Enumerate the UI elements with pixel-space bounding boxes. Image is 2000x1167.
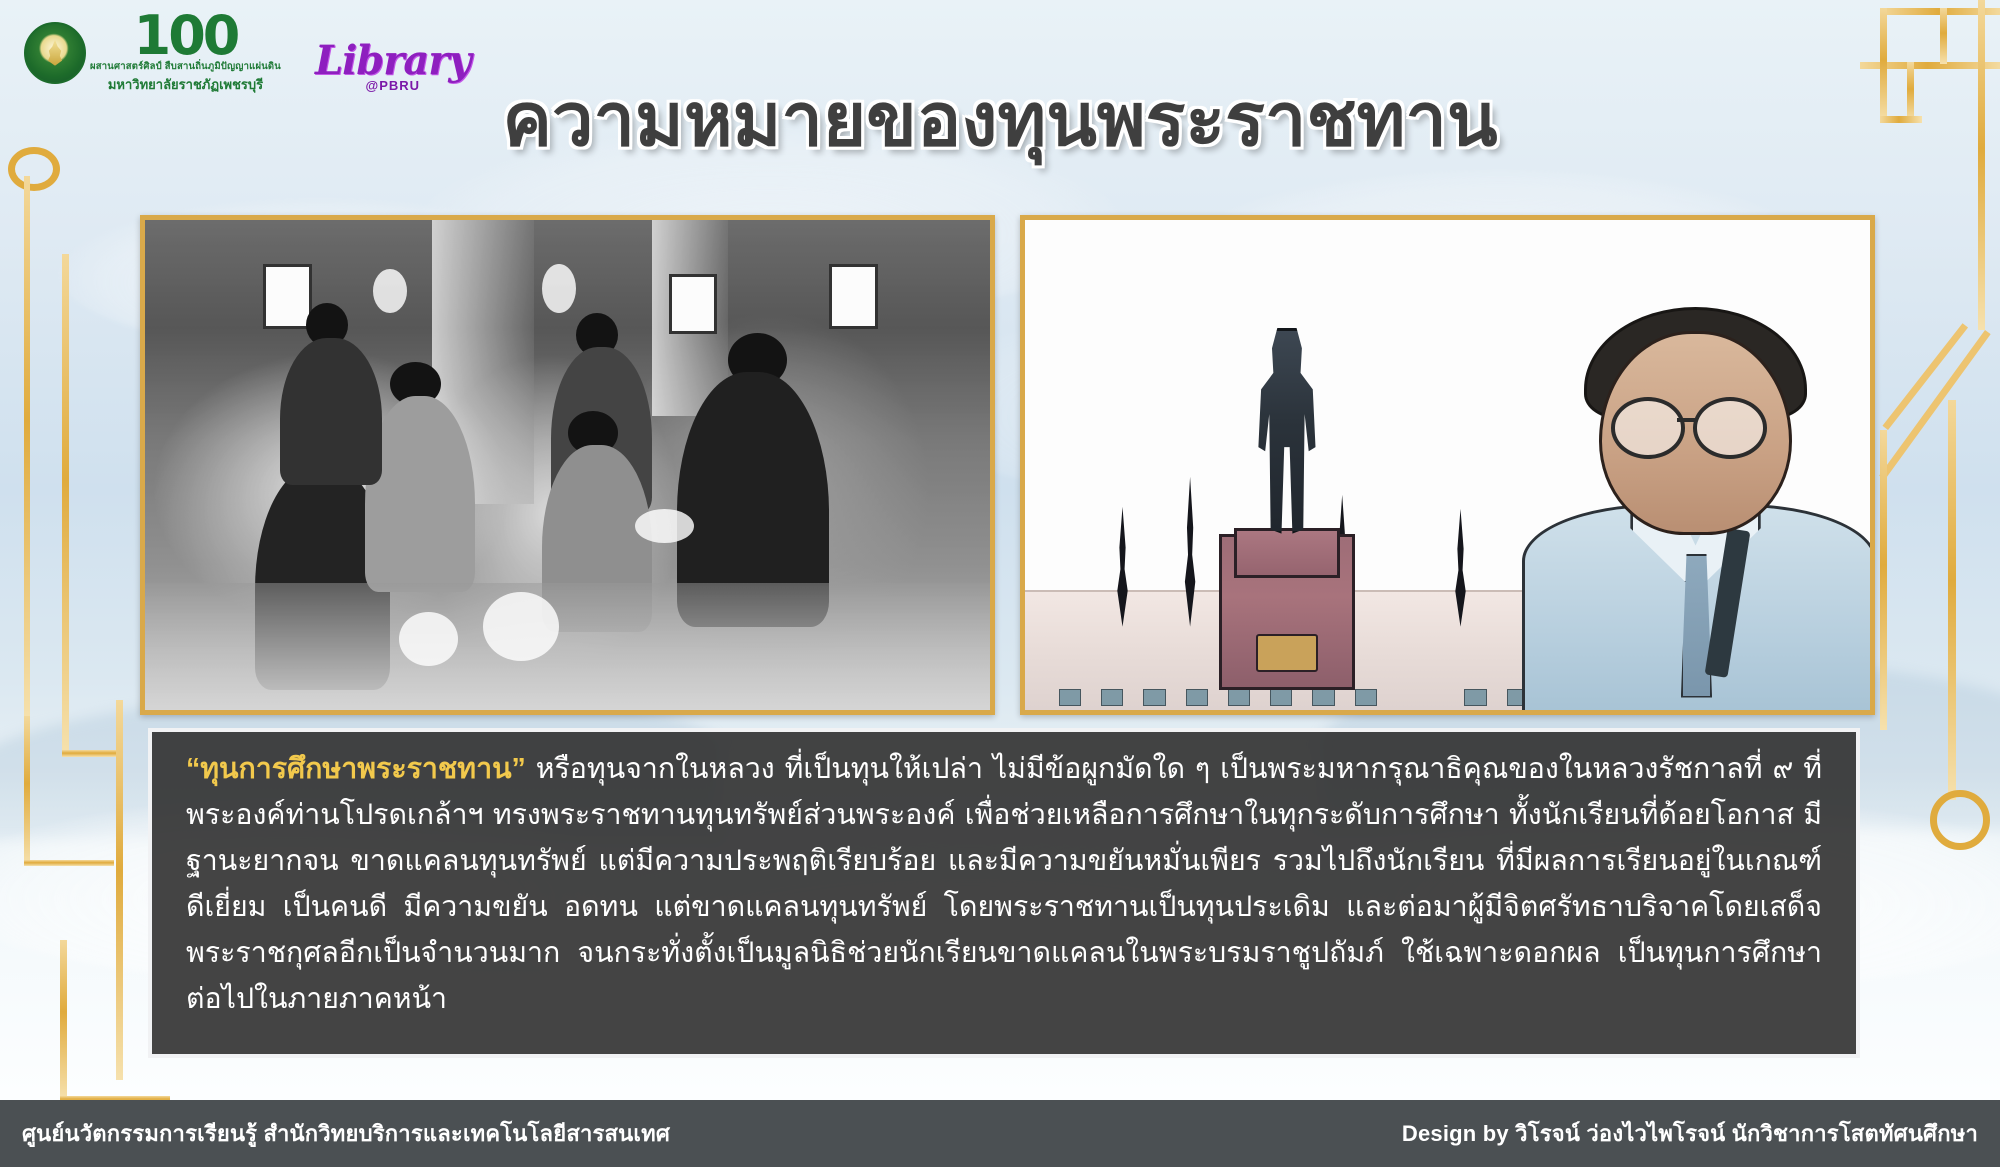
monument-plaque bbox=[1256, 634, 1318, 672]
footer-organization: ศูนย์นวัตกรรมการเรียนรู้ สำนักวิทยบริการ… bbox=[22, 1116, 670, 1151]
king-portrait bbox=[1498, 298, 1875, 710]
description-text: “ทุนการศึกษาพระราชทาน” หรือทุนจากในหลวง … bbox=[186, 746, 1822, 1022]
monument-pedestal-upper bbox=[1234, 528, 1340, 578]
slide-canvas: 100 ผสานศาสตร์ศิลป์ สืบสานถิ่นภูมิปัญญาแ… bbox=[0, 0, 2000, 1167]
footer-credit: Design by วิโรจน์ ว่องไวไพโรจน์ นักวิชาก… bbox=[1402, 1116, 1978, 1151]
page-title: ความหมายของทุนพระราชทาน bbox=[0, 60, 2000, 178]
footer-bar: ศูนย์นวัตกรรมการเรียนรู้ สำนักวิทยบริการ… bbox=[0, 1100, 2000, 1167]
highlight-term: “ทุนการศึกษาพระราชทาน” bbox=[186, 753, 526, 785]
description-paragraph: หรือทุนจากในหลวง ที่เป็นทุนให้เปล่า ไม่ม… bbox=[186, 753, 1822, 1015]
portrait-glasses-bridge bbox=[1677, 418, 1696, 422]
monument-and-portrait-illustration bbox=[1020, 215, 1875, 715]
logo-numerals: 100 bbox=[134, 12, 238, 61]
portrait-glasses-right bbox=[1693, 397, 1767, 459]
historic-audience-photograph bbox=[140, 215, 995, 715]
photo-left-content bbox=[145, 220, 990, 710]
photo-right-content bbox=[1025, 220, 1870, 710]
description-panel: “ทุนการศึกษาพระราชทาน” หรือทุนจากในหลวง … bbox=[148, 728, 1860, 1058]
portrait-glasses-left bbox=[1611, 397, 1685, 459]
